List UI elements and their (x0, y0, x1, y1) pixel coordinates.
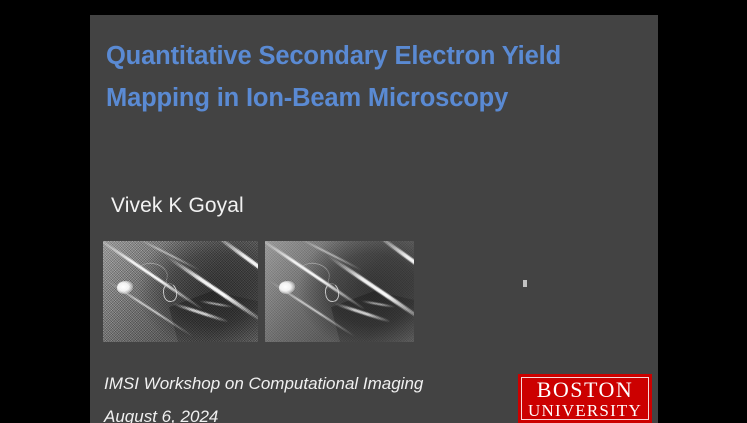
slide-title-line-1: Quantitative Secondary Electron Yield (106, 35, 646, 77)
boston-university-logo: BOSTON UNIVERSITY (518, 374, 652, 423)
logo-text-university: UNIVERSITY (528, 401, 642, 420)
mouse-cursor-icon (523, 280, 527, 287)
footer-venue: IMSI Workshop on Computational Imaging (104, 367, 423, 400)
micrograph-denoised-content (265, 241, 414, 342)
micrograph-noisy-image (103, 241, 258, 342)
logo-inner-frame: BOSTON UNIVERSITY (521, 377, 649, 420)
slide-title-line-2: Mapping in Ion-Beam Microscopy (106, 77, 646, 119)
noise-overlay (265, 241, 414, 342)
micrograph-noisy-content (103, 241, 258, 342)
author-name: Vivek K Goyal (111, 194, 244, 218)
video-letterbox-frame: Quantitative Secondary Electron Yield Ma… (0, 0, 747, 423)
noise-overlay (103, 241, 258, 342)
slide-footer: IMSI Workshop on Computational Imaging A… (104, 367, 423, 423)
micrograph-denoised-image (265, 241, 414, 342)
slide-title: Quantitative Secondary Electron Yield Ma… (106, 35, 646, 119)
presentation-slide: Quantitative Secondary Electron Yield Ma… (90, 15, 658, 423)
figure-strip (103, 241, 433, 343)
footer-date: August 6, 2024 (104, 400, 423, 423)
logo-text-boston: BOSTON (537, 379, 634, 401)
